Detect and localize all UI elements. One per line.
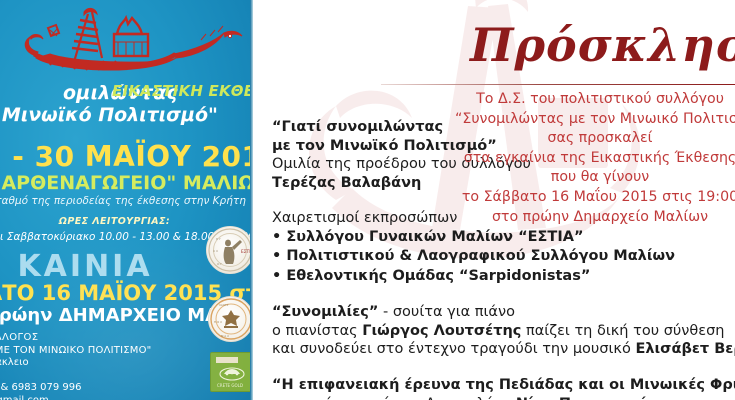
exhibition-dates: 16 - 30 ΜΑΪΟΥ 2015 bbox=[0, 140, 252, 173]
spacer-3 bbox=[272, 359, 692, 376]
contact-email: noanc@gmail.com bbox=[0, 395, 216, 400]
music-piece-title: “Συνομιλίες” bbox=[272, 304, 378, 320]
music-pianist-name: Γιώργος Λουτσέτης bbox=[362, 323, 521, 339]
greeting-item-1: • Συλλόγου Γυναικών Μαλίων “ΕΣΤΙΑ” bbox=[272, 228, 692, 247]
lecture-title: “Η επιφανειακή έρευνα της Πεδιάδας και ο… bbox=[272, 377, 735, 393]
contact-line-2: ΩΝΤΑΣ ΜΕ ΤΟΝ ΜΙΝΩΙΚΟ ΠΟΛΙΤΙΣΜΟ" bbox=[0, 345, 216, 358]
exhibition-title-line2: ε τον Μινωϊκό Πολιτισμό" bbox=[0, 104, 250, 126]
svg-text:ΛΑΟΓΡ: ΛΑΟΓΡ bbox=[219, 303, 229, 307]
lecture-suffix: , με οπτικοακουστικό υλικό bbox=[669, 396, 735, 400]
svg-text:Μ Α Λ: Μ Α Λ bbox=[221, 334, 229, 338]
invitation-heading: Πρόσκληση bbox=[470, 18, 735, 72]
opening-word: ΚΑΙΝΙΑ bbox=[0, 249, 220, 284]
music-pianist-prefix: ο πιανίστας bbox=[272, 323, 362, 339]
music-pianist-suffix: παίζει τη δική του σύνθεση bbox=[521, 323, 724, 339]
green-sponsor-logo: CRETE GOLD bbox=[210, 352, 253, 392]
heading-divider-rule bbox=[381, 84, 735, 85]
music-line-2: ο πιανίστας Γιώργος Λουτσέτης παίζει τη … bbox=[272, 322, 692, 341]
invitation-poster: ομιλώντας ε τον Μινωϊκό Πολιτισμό" ΕΙΚΑΣ… bbox=[0, 0, 735, 400]
svg-text:Π Ο Λ: Π Ο Λ bbox=[214, 320, 222, 324]
minoan-ship-icon bbox=[18, 6, 253, 84]
svg-text:Σ Υ: Σ Υ bbox=[216, 237, 221, 241]
invitation-line-5: που θα γίνουν bbox=[455, 168, 735, 188]
estia-emblem-logo: ΕΣΤΙΑ Σ ΥΛ ΛΟ Γ bbox=[206, 226, 253, 274]
panel-divider bbox=[250, 0, 253, 400]
programme-block-music: “Συνομιλίες” - σουίτα για πιάνο ο πιανίσ… bbox=[272, 303, 692, 359]
invitation-line-2: “Συνομιλώντας με τον Μινωικό Πολιτισμό” bbox=[455, 110, 735, 130]
contact-line-4: 426 570 bbox=[0, 370, 216, 383]
contact-line-5: 079 717 & 6983 079 996 bbox=[0, 382, 216, 395]
contact-line-1: ΚΟΣ ΣΥΛΛΟΓΟΣ bbox=[0, 332, 216, 345]
music-piece-sub: - σουίτα για πιάνο bbox=[378, 304, 515, 320]
svg-text:Λ Λ: Λ Λ bbox=[213, 249, 219, 253]
invitation-line-1: Το Δ.Σ. του πολιτιστικού συλλόγου bbox=[455, 90, 735, 110]
invitation-line-3: σας προσκαλεί bbox=[455, 129, 735, 149]
folklore-emblem-logo: ΛΑΟΓΡΠ Ο ΛΜ Α Λ bbox=[208, 296, 253, 342]
lecture-presenter-name: Νίκο Παναγιωτάκη bbox=[516, 396, 669, 400]
music-line-1: “Συνομιλίες” - σουίτα για πιάνο bbox=[272, 303, 692, 322]
music-line-3: και συνοδεύει στο έντεχνο τραγούδι την μ… bbox=[272, 340, 692, 359]
exhibition-kicker: ΕΙΚΑΣΤΙΚΗ ΕΚΘΕΣΗ bbox=[112, 82, 253, 100]
exhibition-venue-note: ς σταθμό της περιοδείας της έκθεσης στην… bbox=[0, 195, 253, 207]
programme-block-lecture: “Η επιφανειακή έρευνα της Πεδιάδας και ο… bbox=[272, 376, 692, 400]
exhibition-venue: ο "ΠΑΡΘΕΝΑΓΩΓΕΙΟ" ΜΑΛΙΩΝ bbox=[0, 172, 253, 194]
contact-block: ΚΟΣ ΣΥΛΛΟΓΟΣ ΩΝΤΑΣ ΜΕ ΤΟΝ ΜΙΝΩΙΚΟ ΠΟΛΙΤΙ… bbox=[0, 332, 216, 400]
music-singer-prefix: και συνοδεύει στο έντεχνο τραγούδι την μ… bbox=[272, 341, 635, 357]
invitation-body: Το Δ.Σ. του πολιτιστικού συλλόγου “Συνομ… bbox=[455, 90, 735, 227]
opening-hours-label: ΩΡΕΣ ΛΕΙΤΟΥΡΓΙΑΣ: bbox=[0, 216, 247, 227]
music-singer-name: Ελισάβετ Βερούλη bbox=[635, 341, 735, 357]
lecture-line-1: “Η επιφανειακή έρευνα της Πεδιάδας και ο… bbox=[272, 376, 692, 395]
invitation-line-7: στο πρώην Δημαρχείο Μαλίων bbox=[455, 208, 735, 228]
spacer-2 bbox=[272, 286, 692, 303]
greeting-item-2: • Πολιτιστικού & Λαογραφικού Συλλόγου Μα… bbox=[272, 247, 692, 266]
invitation-line-4: στα εγκαίνια της Εικαστικής Έκθεσης bbox=[455, 149, 735, 169]
contact-line-3: 4 06 Ηράκλειο bbox=[0, 357, 216, 370]
lecture-line-2: παρουσίαση από τον Αρχαιολόγο Νίκο Παναγ… bbox=[272, 395, 692, 400]
svg-text:CRETE GOLD: CRETE GOLD bbox=[217, 383, 243, 388]
invitation-line-6: το Σάββατο 16 Μαΐου 2015 στις 19:00 bbox=[455, 188, 735, 208]
greeting-item-3: • Εθελοντικής Ομάδας “Sarpidonistas” bbox=[272, 267, 692, 286]
left-blue-panel: ομιλώντας ε τον Μινωϊκό Πολιτισμό" ΕΙΚΑΣ… bbox=[0, 0, 253, 400]
lecture-prefix: παρουσίαση από τον Αρχαιολόγο bbox=[272, 396, 516, 400]
svg-text:Ο Γ: Ο Γ bbox=[217, 262, 222, 266]
